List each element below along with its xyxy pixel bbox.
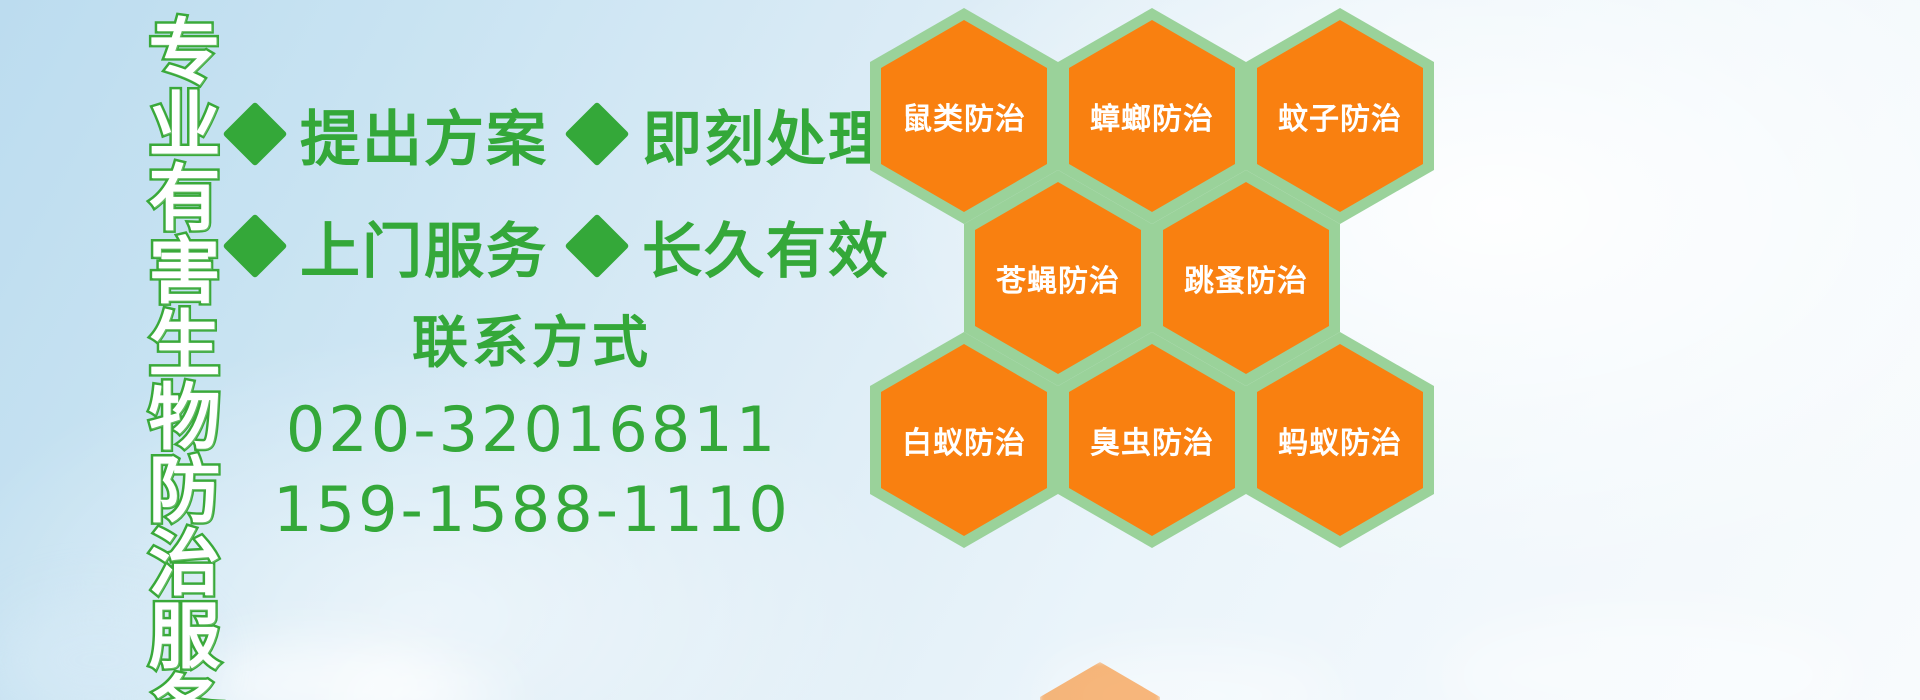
hex-label: 蚂蚁防治 xyxy=(1278,418,1402,462)
background-blur-blob xyxy=(1440,610,1860,700)
hex-inner: 苍蝇防治 xyxy=(975,182,1141,374)
feature-item-propose-plan: 提出方案 xyxy=(232,91,548,178)
feature-label: 长久有效 xyxy=(642,203,890,290)
hex-inner: 白蚁防治 xyxy=(881,344,1047,536)
hex-label: 苍蝇防治 xyxy=(996,256,1120,300)
feature-label: 即刻处理 xyxy=(642,91,890,178)
hex-label: 蟑螂防治 xyxy=(1090,94,1214,138)
feature-item-immediate-handling: 即刻处理 xyxy=(574,91,890,178)
background-blur-blob xyxy=(190,640,450,700)
pest-control-banner: 专业有害生物防治服务 提出方案 即刻处理 上门服务 长久有效 联系方式 xyxy=(0,0,1920,700)
background-blur-blob xyxy=(330,660,510,700)
contact-heading: 联系方式 xyxy=(232,312,832,376)
hex-inner: 跳蚤防治 xyxy=(1163,182,1329,374)
service-honeycomb: 鼠类防治 蟑螂防治 蚊子防治 苍蝇防治 跳蚤防治 白蚁防治 xyxy=(862,0,1462,700)
hex-inner: 臭虫防治 xyxy=(1069,344,1235,536)
diamond-icon xyxy=(222,213,287,278)
hex-label: 蚊子防治 xyxy=(1278,94,1402,138)
feature-row: 上门服务 长久有效 xyxy=(232,190,872,302)
feature-label: 提出方案 xyxy=(300,91,548,178)
vertical-headline: 专业有害生物防治服务 xyxy=(108,14,214,686)
feature-label: 上门服务 xyxy=(300,203,548,290)
phone-landline[interactable]: 020-32016811 xyxy=(232,390,832,469)
hex-label: 跳蚤防治 xyxy=(1184,256,1308,300)
diamond-icon xyxy=(222,101,287,166)
hex-label: 鼠类防治 xyxy=(902,94,1026,138)
diamond-icon xyxy=(564,213,629,278)
feature-list: 提出方案 即刻处理 上门服务 长久有效 xyxy=(232,78,872,302)
feature-item-onsite-service: 上门服务 xyxy=(232,203,548,290)
hex-label: 白蚁防治 xyxy=(902,418,1026,462)
hex-inner: 蚊子防治 xyxy=(1257,20,1423,212)
contact-block: 联系方式 020-32016811 159-1588-1110 xyxy=(232,312,832,549)
feature-item-long-lasting: 长久有效 xyxy=(574,203,890,290)
hex-inner: 蚂蚁防治 xyxy=(1257,344,1423,536)
hex-label: 臭虫防治 xyxy=(1090,418,1214,462)
hex-inner: 蟑螂防治 xyxy=(1069,20,1235,212)
hex-inner: 鼠类防治 xyxy=(881,20,1047,212)
diamond-icon xyxy=(564,101,629,166)
feature-row: 提出方案 即刻处理 xyxy=(232,78,872,190)
phone-mobile[interactable]: 159-1588-1110 xyxy=(232,470,832,549)
